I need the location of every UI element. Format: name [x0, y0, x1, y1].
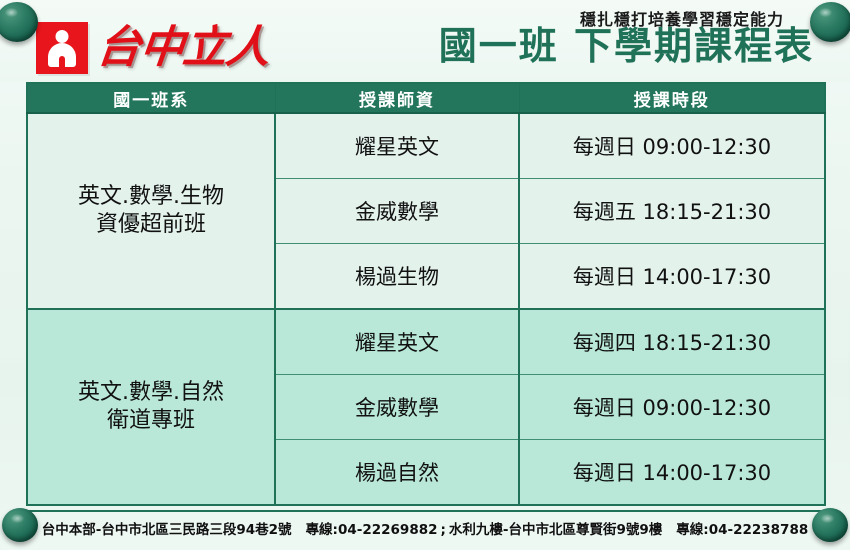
corner-bead-top-right-icon [810, 2, 850, 42]
column-header-teacher: 授課師資 [275, 83, 519, 113]
table-row: 英文.數學.生物 資優超前班 耀星英文 每週日 09:00-12:30 [27, 113, 825, 179]
figure-legs-shape [59, 56, 65, 67]
teacher-cell: 金威數學 [275, 179, 519, 244]
class-name-line1: 英文.數學.自然 [78, 380, 224, 405]
column-header-class: 國一班系 [27, 83, 275, 113]
figure-head-shape [56, 30, 69, 43]
poster-header: 台中立人 穩扎穩打培養學習穩定能力 國一班 下學期課程表 [0, 0, 850, 82]
corner-bead-bottom-right-icon [812, 508, 848, 542]
column-header-time: 授課時段 [519, 83, 825, 113]
time-cell: 每週日 09:00-12:30 [519, 375, 825, 440]
branch2-phone: 專線:04-22238788 [676, 522, 808, 538]
time-cell: 每週日 14:00-17:30 [519, 244, 825, 310]
footer-contact-info: 台中本部-台中市北區三民路三段94巷2號專線:04-22269882;水利九樓-… [0, 518, 850, 538]
branch1-address: 台中本部-台中市北區三民路三段94巷2號 [42, 522, 292, 538]
schedule-table-head: 國一班系 授課師資 授課時段 [27, 83, 825, 113]
class-name-cell: 英文.數學.自然 衛道專班 [27, 309, 275, 505]
time-cell: 每週日 09:00-12:30 [519, 113, 825, 179]
class-name-line2: 資優超前班 [96, 212, 206, 237]
footer-separator: ; [438, 522, 449, 538]
time-cell: 每週五 18:15-21:30 [519, 179, 825, 244]
person-in-square-icon [36, 22, 88, 74]
table-row: 英文.數學.自然 衛道專班 耀星英文 每週四 18:15-21:30 [27, 309, 825, 375]
teacher-cell: 金威數學 [275, 375, 519, 440]
time-cell: 每週四 18:15-21:30 [519, 309, 825, 375]
page-title: 國一班 下學期課程表 [439, 26, 814, 68]
footer-divider [26, 510, 824, 512]
branch1-phone: 專線:04-22269882 [306, 522, 438, 538]
teacher-cell: 耀星英文 [275, 309, 519, 375]
schedule-table: 國一班系 授課師資 授課時段 英文.數學.生物 資優超前班 耀星英文 每週日 0… [26, 82, 826, 506]
teacher-cell: 楊過自然 [275, 440, 519, 506]
course-schedule-poster: 台中立人 穩扎穩打培養學習穩定能力 國一班 下學期課程表 國一班系 授課師資 授… [0, 0, 850, 550]
branch2-address: 水利九樓-台中市北區尊賢街9號9樓 [449, 522, 662, 538]
teacher-cell: 耀星英文 [275, 113, 519, 179]
corner-bead-bottom-left-icon [2, 508, 38, 542]
table-header-row: 國一班系 授課師資 授課時段 [27, 83, 825, 113]
class-name-cell: 英文.數學.生物 資優超前班 [27, 113, 275, 309]
brand-logo-text: 台中立人 [95, 26, 272, 70]
class-name-line2: 衛道專班 [107, 408, 195, 433]
teacher-cell: 楊過生物 [275, 244, 519, 310]
time-cell: 每週日 14:00-17:30 [519, 440, 825, 506]
schedule-table-body: 英文.數學.生物 資優超前班 耀星英文 每週日 09:00-12:30 金威數學… [27, 113, 825, 505]
class-name-line1: 英文.數學.生物 [78, 184, 224, 209]
brand-logo: 台中立人 [36, 22, 269, 74]
